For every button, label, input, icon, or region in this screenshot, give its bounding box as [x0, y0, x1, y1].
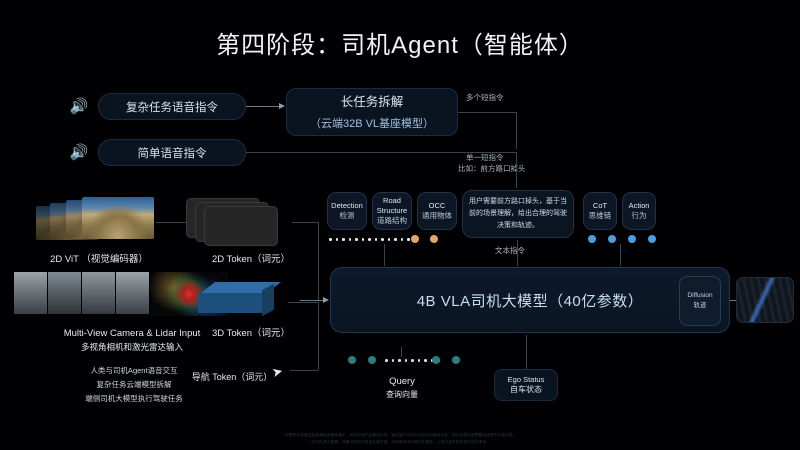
chip-occ-cn: 通用物体: [422, 211, 452, 221]
query-caption: Query 查询向量: [360, 374, 444, 402]
simple-voice-command-box[interactable]: 简单语音指令: [98, 139, 246, 166]
diffusion-head[interactable]: Diffusion 轨迹: [679, 276, 721, 326]
camera-photo-stack: [36, 196, 156, 246]
summary-line-3: 端侧司机大模型执行驾驶任务: [44, 392, 224, 406]
connector-token2d-down: [318, 222, 319, 300]
chip-action[interactable]: Action 行为: [622, 192, 656, 230]
page-title: 第四阶段：司机Agent（智能体）: [0, 25, 800, 60]
dot-row-teal-left: [348, 356, 376, 364]
speaker-icon-2: 🔊: [68, 142, 90, 162]
dot-row-blue: [588, 235, 656, 243]
ego-status-box[interactable]: Ego Status 自车状态: [494, 369, 558, 401]
chip-detection-cn: 检测: [340, 211, 355, 221]
chip-cot[interactable]: CoT 思维链: [583, 192, 617, 230]
connector-cloud-right: [458, 112, 516, 113]
footer-disclaimer: *本图所示功能及性能指标为概念演示，仅供介绍产品规划方向，最终量产交付以实际交付…: [0, 432, 800, 446]
cloud-model-title: 长任务拆解: [341, 93, 404, 112]
chip-detection-en: Detection: [331, 201, 363, 211]
diffusion-head-cn: 轨迹: [694, 301, 707, 311]
connector-outputs-to-model: [620, 244, 621, 266]
dot-row-orange: [411, 235, 438, 243]
connector-ego-to-model: [526, 335, 527, 369]
connector-token3d-right: [288, 302, 318, 303]
ego-status-en: Ego Status: [508, 375, 545, 384]
connector-cloud-down: [516, 112, 517, 149]
connector-simple-right: [246, 152, 516, 153]
chip-occ-en: OCC: [429, 201, 446, 211]
connector-nav-right: [290, 370, 318, 371]
chip-occ[interactable]: OCC 通用物体: [417, 192, 457, 230]
ego-status-cn: 自车状态: [510, 384, 542, 395]
arrow-into-model: [323, 297, 329, 303]
dot-row-teal-right: [432, 356, 460, 364]
connector-tokens-to-model: [300, 300, 324, 301]
chip-road-structure[interactable]: Road Structure 道路结构: [372, 192, 412, 230]
token-2d-stack: [186, 196, 298, 246]
edge-label-single-short: 单一短指令: [466, 153, 504, 164]
chip-cot-en: CoT: [593, 201, 607, 211]
chip-road-structure-en: Road Structure: [373, 196, 411, 216]
diffusion-head-en: Diffusion: [687, 291, 712, 301]
complex-voice-command-label: 复杂任务语音指令: [126, 99, 218, 115]
connector-token2d-right: [292, 222, 318, 223]
connector-into-prompt: [516, 152, 517, 188]
complex-voice-command-box[interactable]: 复杂任务语音指令: [98, 93, 246, 120]
summary-line-2: 复杂任务云端模型拆解: [44, 378, 224, 392]
connector-nav-up: [318, 302, 319, 370]
vla-model-box[interactable]: 4B VLA司机大模型（40亿参数） Diffusion 轨迹: [330, 267, 730, 333]
token-3d-caption: 3D Token（词元）: [196, 326, 306, 341]
arrow-complex-to-cloud: [279, 103, 285, 109]
summary-text: 人类与司机Agent语音交互 复杂任务云端模型拆解 端侧司机大模型执行驾驶任务: [44, 364, 224, 406]
camera-input-caption-cn: 多视角相机和激光雷达输入: [22, 341, 242, 355]
connector-query-to-model: [401, 347, 402, 357]
prompt-text-box[interactable]: 用户需要前方路口掉头，基于当前的场景理解，给出合理的驾驶决策和轨迹。: [462, 190, 574, 238]
footer-line-2: *文中所述之数据、效果均来自仿真或实验环境，实际使用中可能存在差异。上述内容不构…: [0, 439, 800, 446]
cloud-model-subtitle: （云端32B VL基座模型）: [310, 115, 434, 131]
speaker-icon: 🔊: [68, 96, 90, 116]
token-2d-caption: 2D Token（词元）: [196, 252, 306, 267]
vit-caption: 2D ViT （视觉编码器）: [24, 252, 174, 267]
connector-chips-to-model: [384, 244, 385, 266]
bev-trajectory-view: [736, 277, 794, 323]
query-caption-en: Query: [360, 374, 444, 389]
dot-row-white: [329, 238, 410, 241]
cloud-model-box[interactable]: 长任务拆解 （云端32B VL基座模型）: [286, 88, 458, 136]
edge-label-multi-short: 多个短指令: [466, 93, 504, 104]
chip-detection[interactable]: Detection 检测: [327, 192, 367, 230]
chip-action-en: Action: [629, 201, 650, 211]
connector-photos-to-token2d: [156, 222, 186, 223]
vla-model-label: 4B VLA司机大模型（40亿参数）: [417, 290, 644, 311]
connector-prompt-to-model: [517, 240, 518, 266]
multiview-camera-images: [14, 272, 149, 314]
prompt-text: 用户需要前方路口掉头，基于当前的场景理解，给出合理的驾驶决策和轨迹。: [469, 196, 567, 232]
chip-cot-cn: 思维链: [589, 211, 612, 221]
token-3d-cube: [196, 282, 282, 322]
edge-label-text-instruction: 文本指令: [495, 246, 525, 257]
query-caption-cn: 查询向量: [360, 389, 444, 402]
footer-line-1: *本图所示功能及性能指标为概念演示，仅供介绍产品规划方向，最终量产交付以实际交付…: [0, 432, 800, 439]
connector-complex-to-cloud: [246, 106, 280, 107]
summary-line-1: 人类与司机Agent语音交互: [44, 364, 224, 378]
chip-road-structure-cn: 道路结构: [377, 216, 407, 226]
chip-action-cn: 行为: [632, 211, 647, 221]
slide-canvas: 第四阶段：司机Agent（智能体） 🔊 复杂任务语音指令 长任务拆解 （云端32…: [0, 0, 800, 450]
simple-voice-command-label: 简单语音指令: [138, 145, 207, 161]
